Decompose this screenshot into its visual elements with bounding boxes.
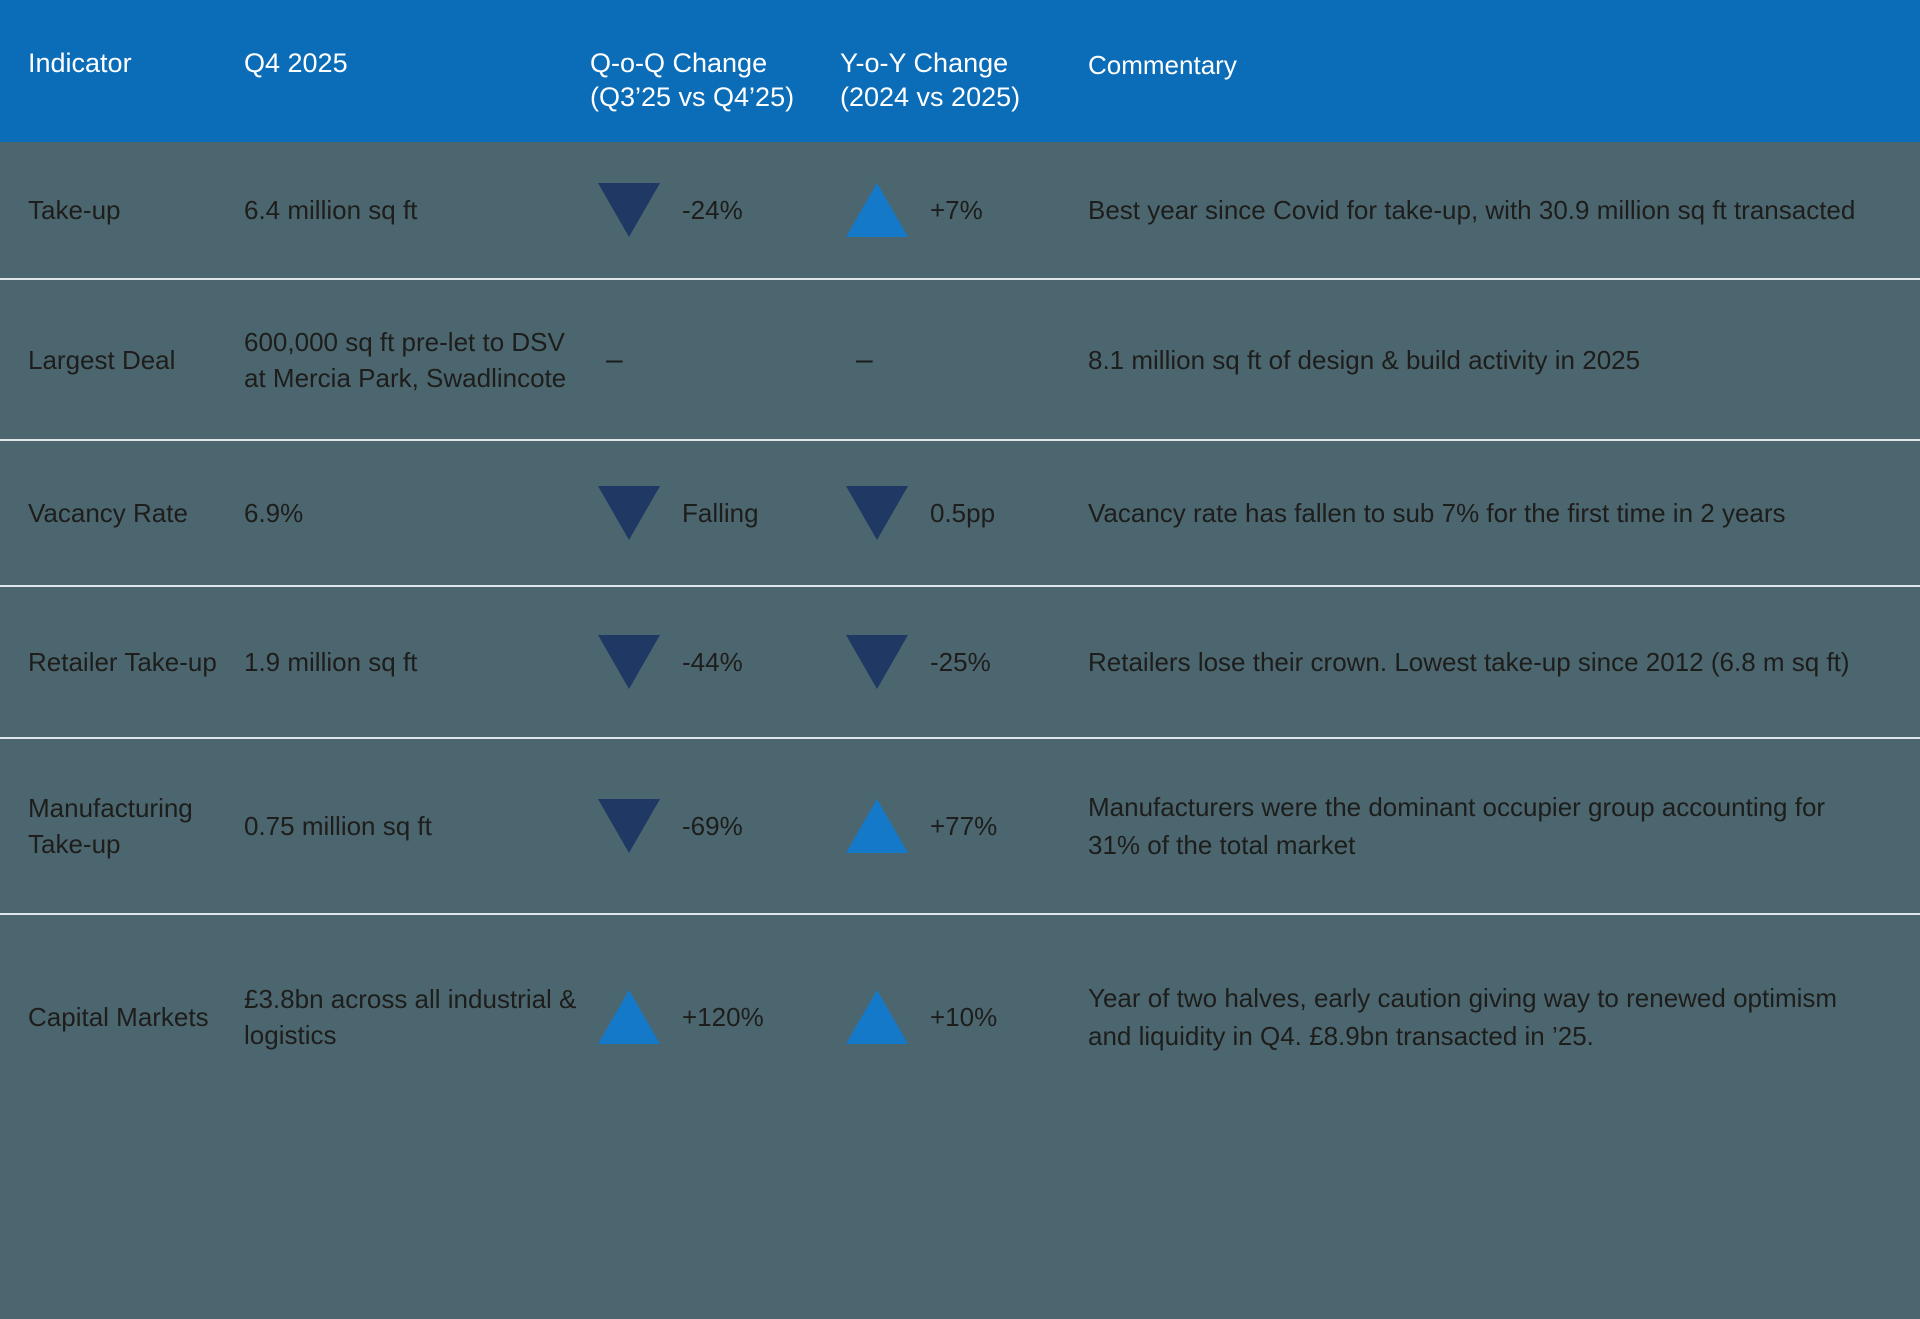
column-header-qoq-change-sublabel: (Q3’25 vs Q4’25) (590, 80, 840, 114)
table-row: Retailer Take-up 1.9 million sq ft -44% … (0, 585, 1920, 737)
row-yoy-label: +10% (930, 999, 997, 1035)
triangle-up-icon (846, 183, 908, 237)
row-qoq-label: Falling (682, 495, 759, 531)
table-row: Manufacturing Take-up 0.75 million sq ft… (0, 737, 1920, 913)
row-commentary: Manufacturers were the dominant occupier… (1088, 788, 1920, 864)
row-qoq-label: +120% (682, 999, 764, 1035)
column-header-yoy-change-sublabel: (2024 vs 2025) (840, 80, 1088, 114)
row-value: 6.9% (244, 495, 590, 531)
triangle-down-icon (846, 635, 908, 689)
triangle-up-icon (846, 990, 908, 1044)
column-header-q4-2025: Q4 2025 (244, 46, 590, 80)
column-header-indicator: Indicator (0, 46, 244, 80)
row-yoy-change: +7% (840, 183, 1088, 237)
table-row: Capital Markets £3.8bn across all indust… (0, 913, 1920, 1119)
column-header-commentary-label: Commentary (1088, 46, 1880, 84)
triangle-down-icon (598, 799, 660, 853)
dash-icon: – (840, 342, 873, 378)
column-header-indicator-label: Indicator (28, 46, 244, 80)
row-indicator: Largest Deal (0, 342, 244, 378)
column-header-q4-2025-label: Q4 2025 (244, 46, 590, 80)
triangle-up-icon (846, 799, 908, 853)
triangle-down-icon (598, 635, 660, 689)
row-value: £3.8bn across all industrial & logistics (244, 981, 590, 1053)
row-yoy-change: 0.5pp (840, 486, 1088, 540)
row-commentary: Vacancy rate has fallen to sub 7% for th… (1088, 494, 1920, 532)
column-header-yoy-change: Y-o-Y Change (2024 vs 2025) (840, 46, 1088, 114)
table-row: Vacancy Rate 6.9% Falling 0.5pp Vacancy … (0, 439, 1920, 585)
market-indicators-table: Indicator Q4 2025 Q-o-Q Change (Q3’25 vs… (0, 0, 1920, 1319)
column-header-qoq-change-label: Q-o-Q Change (590, 46, 840, 80)
row-commentary: Best year since Covid for take-up, with … (1088, 191, 1920, 229)
column-header-qoq-change: Q-o-Q Change (Q3’25 vs Q4’25) (590, 46, 840, 114)
row-yoy-label: 0.5pp (930, 495, 995, 531)
row-yoy-change: – (840, 342, 1088, 378)
row-value: 1.9 million sq ft (244, 644, 590, 680)
triangle-up-icon (598, 990, 660, 1044)
row-yoy-label: -25% (930, 644, 991, 680)
row-yoy-label: +7% (930, 192, 983, 228)
row-qoq-change: +120% (590, 990, 840, 1044)
row-qoq-change: -69% (590, 799, 840, 853)
row-qoq-change: -44% (590, 635, 840, 689)
row-value: 600,000 sq ft pre-let to DSV at Mercia P… (244, 324, 590, 396)
row-qoq-change: – (590, 342, 840, 378)
row-yoy-label: +77% (930, 808, 997, 844)
triangle-down-icon (846, 486, 908, 540)
row-yoy-change: -25% (840, 635, 1088, 689)
row-commentary: 8.1 million sq ft of design & build acti… (1088, 341, 1920, 379)
row-qoq-change: -24% (590, 183, 840, 237)
table-row: Largest Deal 600,000 sq ft pre-let to DS… (0, 278, 1920, 439)
row-indicator: Retailer Take-up (0, 644, 244, 680)
table-header-row: Indicator Q4 2025 Q-o-Q Change (Q3’25 vs… (0, 0, 1920, 142)
row-indicator: Vacancy Rate (0, 495, 244, 531)
column-header-commentary: Commentary (1088, 46, 1920, 84)
row-commentary: Year of two halves, early caution giving… (1088, 979, 1920, 1055)
triangle-down-icon (598, 183, 660, 237)
row-value: 0.75 million sq ft (244, 808, 590, 844)
column-header-yoy-change-label: Y-o-Y Change (840, 46, 1088, 80)
dash-icon: – (590, 342, 623, 378)
row-qoq-label: -69% (682, 808, 743, 844)
row-indicator: Take-up (0, 192, 244, 228)
row-indicator: Capital Markets (0, 999, 244, 1035)
row-commentary: Retailers lose their crown. Lowest take-… (1088, 643, 1920, 681)
row-yoy-change: +77% (840, 799, 1088, 853)
triangle-down-icon (598, 486, 660, 540)
row-yoy-change: +10% (840, 990, 1088, 1044)
row-value: 6.4 million sq ft (244, 192, 590, 228)
table-row: Take-up 6.4 million sq ft -24% +7% Best … (0, 142, 1920, 278)
row-qoq-change: Falling (590, 486, 840, 540)
row-qoq-label: -24% (682, 192, 743, 228)
row-qoq-label: -44% (682, 644, 743, 680)
row-indicator: Manufacturing Take-up (0, 790, 244, 862)
